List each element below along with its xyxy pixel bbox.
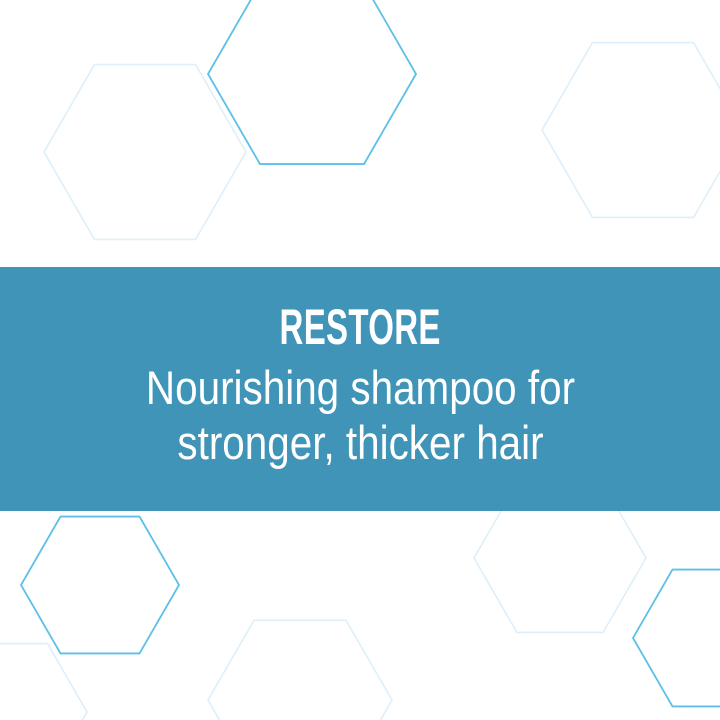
hex-bottom-far-left-pale-icon: [0, 644, 87, 720]
page-title: RESTORE: [279, 303, 440, 352]
banner-subtitle-line-1: Nourishing shampoo for: [145, 360, 574, 415]
hex-top-left-pale-icon: [44, 65, 246, 240]
banner-band: RESTORE Nourishing shampoo for stronger,…: [0, 267, 720, 511]
hex-bottom-left-bright-icon: [21, 517, 179, 654]
banner-canvas: RESTORE Nourishing shampoo for stronger,…: [0, 0, 720, 720]
banner-subtitle-line-2: stronger, thicker hair: [145, 415, 574, 470]
banner-subtitle: Nourishing shampoo for stronger, thicker…: [145, 360, 574, 471]
hex-bottom-right-bright-icon: [633, 570, 720, 707]
hex-bottom-mid-pale-icon: [208, 620, 392, 720]
hex-top-right-pale-icon: [542, 43, 720, 218]
